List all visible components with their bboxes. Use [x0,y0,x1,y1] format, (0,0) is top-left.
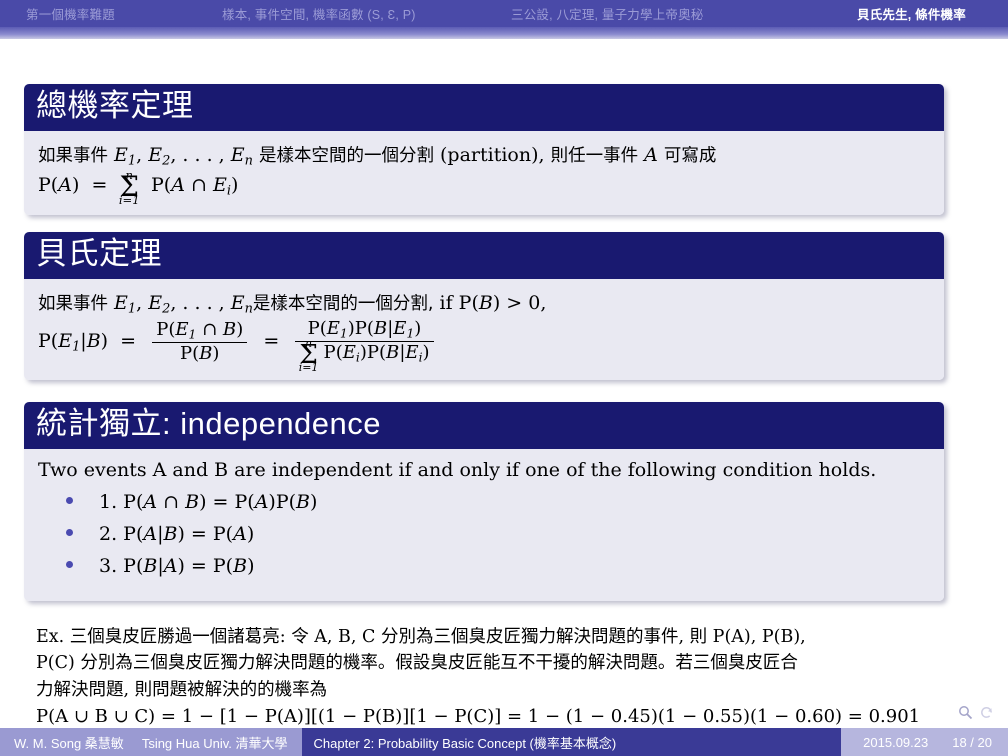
independence-condition-list: 1. P(A ∩ B) = P(A)P(B) 2. P(A|B) = P(A) … [38,491,930,577]
block-title-total-probability: 總機率定理 [24,84,944,131]
nav-item-3[interactable]: 三公設, 八定理, 量子力學上帝奧秘 [511,4,704,23]
total-probability-formula: P(A) = Σni=1 P(A ∩ Ei) [38,171,930,201]
bayes-statement: 如果事件 E1, E2, . . . , En是樣本空間的一個分割, if P(… [38,289,930,319]
slide-content: 總機率定理 如果事件 E1, E2, . . . , En 是樣本空間的一個分割… [0,39,1008,728]
block-body-independence: Two events A and B are independent if an… [24,449,944,601]
bayes-formula: P(E1|B) = P(E1 ∩ B) P(B) = P(E1)P(B|E1) … [38,319,930,365]
top-navigation-bar: 第一個機率難題 樣本, 事件空間, 機率函數 (S, Ɛ, P) 三公設, 八定… [0,0,1008,27]
total-probability-statement: 如果事件 E1, E2, . . . , En 是樣本空間的一個分割 (part… [38,141,930,171]
block-body-total-probability: 如果事件 E1, E2, . . . , En 是樣本空間的一個分割 (part… [24,131,944,215]
nav-item-1[interactable]: 第一個機率難題 [26,4,115,23]
footer-title: Chapter 2: Probability Basic Concept (機率… [302,728,842,756]
example-line-1: Ex. 三個臭皮匠勝過一個諸葛亮: 令 A, B, C 分別為三個臭皮匠獨力解決… [36,624,966,650]
nav-item-2[interactable]: 樣本, 事件空間, 機率函數 (S, Ɛ, P) [222,4,416,23]
list-item: 2. P(A|B) = P(A) [38,523,930,545]
list-item: 3. P(B|A) = P(B) [38,555,930,577]
independence-intro: Two events A and B are independent if an… [38,459,930,481]
block-body-bayes-theorem: 如果事件 E1, E2, . . . , En是樣本空間的一個分割, if P(… [24,279,944,379]
footer-institution: Tsing Hua Univ. 清華大學 [142,728,302,756]
independence-condition-2: 2. P(A|B) = P(A) [99,523,254,545]
independence-condition-3: 3. P(B|A) = P(B) [99,555,254,577]
footer-date: 2015.09.23 [841,728,946,756]
block-title-independence: 統計獨立: independence [24,402,944,449]
bullet-dot-icon [66,497,73,504]
navbar-shadow [0,27,1008,39]
example-line-2: P(C) 分別為三個臭皮匠獨力解決問題的機率。假設臭皮匠能互不干擾的解決問題。若… [36,650,966,676]
bullet-dot-icon [66,561,73,568]
block-bayes-theorem: 貝氏定理 如果事件 E1, E2, . . . , En是樣本空間的一個分割, … [24,232,944,380]
list-item: 1. P(A ∩ B) = P(A)P(B) [38,491,930,513]
rotate-icon[interactable] [979,705,994,720]
independence-condition-1: 1. P(A ∩ B) = P(A)P(B) [99,491,317,513]
block-independence: 統計獨立: independence Two events A and B ar… [24,402,944,601]
example-formula: P(A ∪ B ∪ C) = 1 − [1 − P(A)][(1 − P(B)]… [36,703,966,730]
beamer-navigation-symbols[interactable] [958,705,994,720]
block-total-probability: 總機率定理 如果事件 E1, E2, . . . , En 是樣本空間的一個分割… [24,84,944,215]
footer-bar: W. M. Song 桑慧敏 Tsing Hua Univ. 清華大學 Chap… [0,728,1008,756]
footer-page-number: 18 / 20 [946,728,1008,756]
footer-author: W. M. Song 桑慧敏 [0,728,142,756]
example-paragraph: Ex. 三個臭皮匠勝過一個諸葛亮: 令 A, B, C 分別為三個臭皮匠獨力解決… [36,624,966,730]
bullet-dot-icon [66,529,73,536]
nav-item-4-active[interactable]: 貝氏先生, 條件機率 [857,4,966,23]
search-icon[interactable] [958,705,973,720]
block-title-bayes-theorem: 貝氏定理 [24,232,944,279]
example-line-3: 力解決問題, 則問題被解決的的機率為 [36,677,966,703]
